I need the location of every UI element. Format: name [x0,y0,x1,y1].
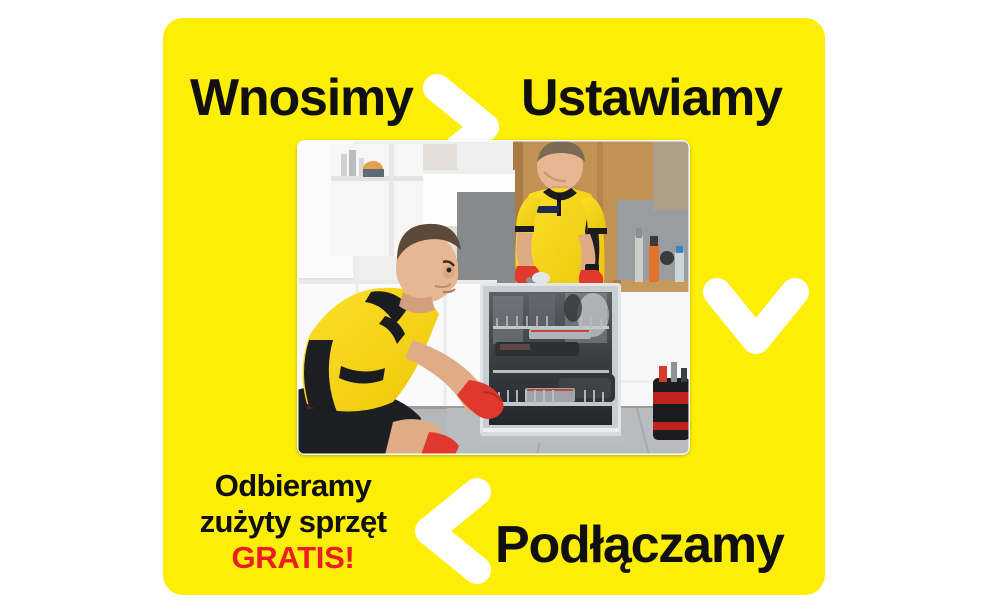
offer-line-gratis: GRATIS! [183,540,403,576]
headline-row: Wnosimy Ustawiamy [163,58,825,138]
promo-card: Wnosimy Ustawiamy [163,18,825,595]
step-label-podlaczamy: Podłączamy [495,505,784,585]
offer-line-1: Odbieramy [183,468,403,504]
photo-illustration [297,140,690,455]
free-pickup-offer: Odbieramy zużyty sprzęt GRATIS! [183,468,403,576]
installation-photo [297,140,690,455]
step-label-wnosimy: Wnosimy [190,58,413,138]
chevron-down-icon [701,276,811,358]
step-label-ustawiamy: Ustawiamy [521,58,782,138]
dishwasher [479,283,623,443]
chevron-left-icon [411,476,493,586]
offer-line-2: zużyty sprzęt [183,504,403,540]
